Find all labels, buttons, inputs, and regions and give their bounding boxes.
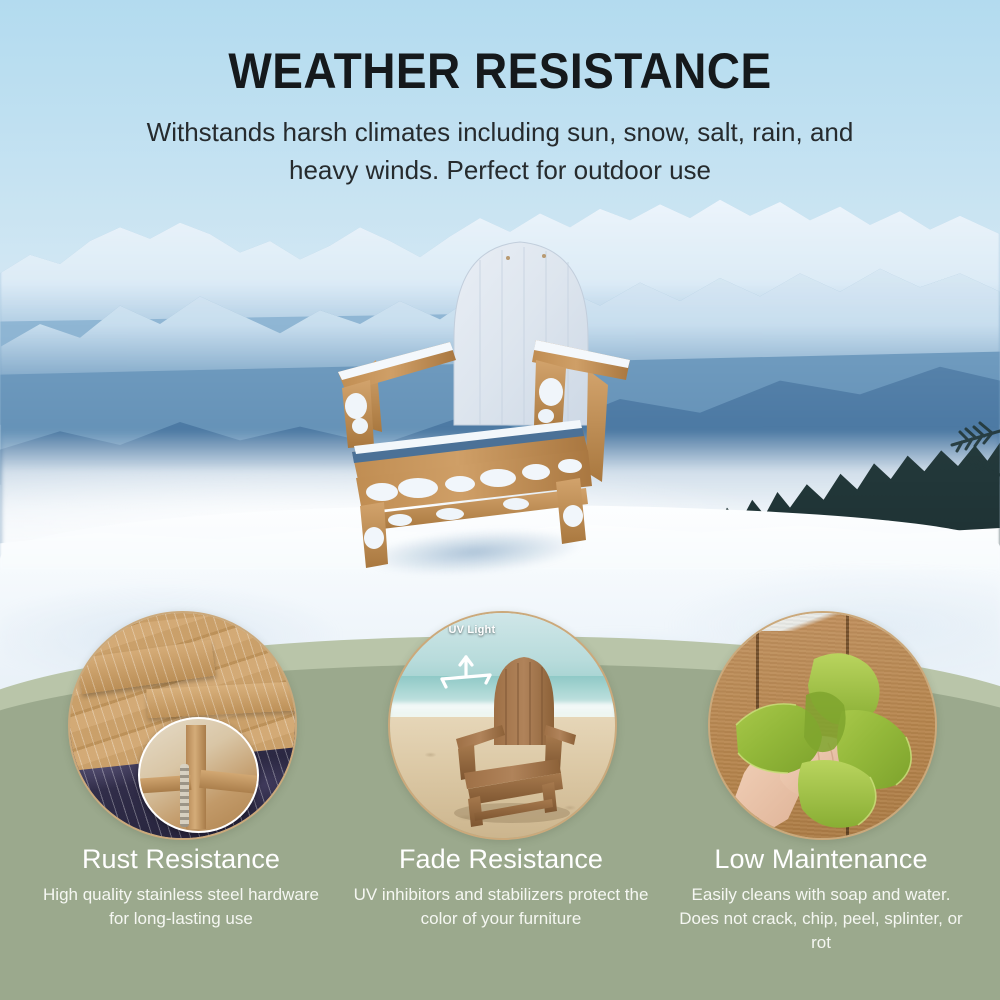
stainless-chain-icon bbox=[180, 764, 188, 827]
pine-branch-icon bbox=[880, 405, 1000, 505]
feature-caption-fade-resistance: Fade Resistance UV inhibitors and stabil… bbox=[351, 843, 651, 931]
feature-description-low-maintenance: Easily cleans with soap and water. Does … bbox=[671, 883, 971, 955]
feature-caption-rust-resistance: Rust Resistance High quality stainless s… bbox=[31, 843, 331, 931]
feature-title-fade-resistance: Fade Resistance bbox=[351, 843, 651, 875]
feature-title-low-maintenance: Low Maintenance bbox=[671, 843, 971, 875]
feature-image-fade-resistance: UV Light bbox=[388, 611, 617, 840]
chair-rail-right bbox=[200, 769, 259, 793]
hardware-closeup-inset bbox=[138, 717, 259, 834]
product-feature-poster: WEATHER RESISTANCE Withstands harsh clim… bbox=[0, 0, 1000, 1000]
beach-chair-image bbox=[390, 613, 615, 838]
feature-caption-low-maintenance: Low Maintenance Easily cleans with soap … bbox=[671, 843, 971, 955]
feature-image-rust-resistance bbox=[68, 611, 297, 840]
feature-title-rust-resistance: Rust Resistance bbox=[31, 843, 331, 875]
feature-description-fade-resistance: UV inhibitors and stabilizers protect th… bbox=[351, 883, 651, 931]
feature-image-low-maintenance bbox=[708, 611, 937, 840]
hand-with-cloth-image bbox=[710, 613, 935, 838]
hero-chair-image bbox=[330, 220, 650, 570]
feature-description-rust-resistance: High quality stainless steel hardware fo… bbox=[31, 883, 331, 931]
page-title: WEATHER RESISTANCE bbox=[40, 42, 960, 100]
page-subtitle: Withstands harsh climates including sun,… bbox=[140, 113, 860, 189]
